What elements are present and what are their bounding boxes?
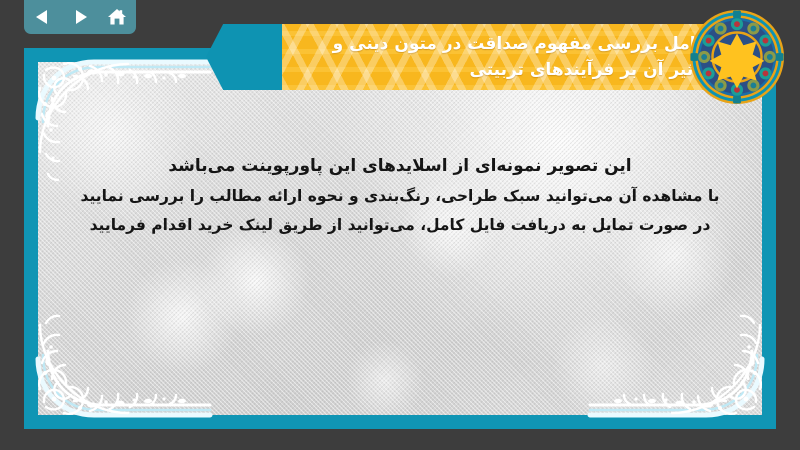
slide-viewer: این تصویر نمونه‌ای از اسلایدهای این پاور… [0,0,800,450]
body-line-2: با مشاهده آن می‌توانید سبک طراحی، رنگ‌بن… [68,189,732,205]
triangle-right-icon [70,7,90,27]
slide-frame: این تصویر نمونه‌ای از اسلایدهای این پاور… [24,48,776,429]
slide-content-panel: این تصویر نمونه‌ای از اسلایدهای این پاور… [38,62,762,415]
body-line-3: در صورت تمایل به دریافت فایل کامل، می‌تو… [68,218,732,234]
body-line-1: این تصویر نمونه‌ای از اسلایدهای این پاور… [68,158,732,175]
triangle-left-icon [33,7,53,27]
slide-body-text: این تصویر نمونه‌ای از اسلایدهای این پاور… [68,158,732,233]
navigation-toolbar [24,0,136,34]
slide-title-line-1: کامل بررسی مفهوم صداقت در متون دینی و [333,31,716,57]
slide-title-bar: کامل بررسی مفهوم صداقت در متون دینی و تأ… [282,24,716,90]
back-button[interactable] [31,5,55,29]
home-icon [106,6,128,28]
home-button[interactable] [105,5,129,29]
forward-button[interactable] [68,5,92,29]
slide-title-line-2: تأثیر آن بر فرآیندهای تربیتی [470,57,716,83]
